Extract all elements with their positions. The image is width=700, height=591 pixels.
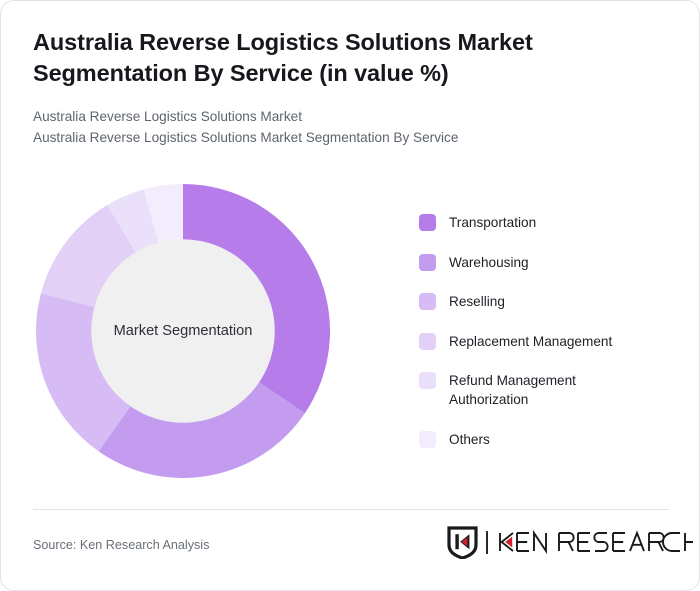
chart-area: Market Segmentation TransportationWareho… (1, 169, 700, 499)
legend-swatch-icon (419, 372, 436, 389)
legend-item-label: Reselling (449, 292, 505, 311)
legend-item-label: Warehousing (449, 253, 529, 272)
donut-chart: Market Segmentation (35, 183, 331, 479)
donut-svg (35, 183, 331, 479)
legend-swatch-icon (419, 214, 436, 231)
page-title: Australia Reverse Logistics Solutions Ma… (33, 27, 645, 89)
donut-inner-circle (91, 239, 275, 423)
legend-item[interactable]: Replacement Management (419, 332, 669, 351)
logo-divider (486, 531, 488, 554)
legend-item[interactable]: Reselling (419, 292, 669, 311)
source-note: Source: Ken Research Analysis (33, 538, 209, 552)
legend-item-label: Refund Management Authorization (449, 371, 576, 409)
subtitle-market: Australia Reverse Logistics Solutions Ma… (33, 106, 645, 127)
legend-item[interactable]: Transportation (419, 213, 669, 232)
subtitle-segmentation: Australia Reverse Logistics Solutions Ma… (33, 127, 645, 148)
chart-card: Australia Reverse Logistics Solutions Ma… (0, 0, 700, 591)
chart-header: Australia Reverse Logistics Solutions Ma… (33, 27, 645, 148)
legend-swatch-icon (419, 254, 436, 271)
legend-swatch-icon (419, 293, 436, 310)
legend-item-label: Transportation (449, 213, 536, 232)
legend-swatch-icon (419, 431, 436, 448)
ken-research-wordmark (497, 530, 693, 554)
subtitle-block: Australia Reverse Logistics Solutions Ma… (33, 106, 645, 148)
legend-item-label: Replacement Management (449, 332, 612, 351)
legend-item[interactable]: Others (419, 430, 669, 449)
legend-item-label: Others (449, 430, 490, 449)
legend-swatch-icon (419, 333, 436, 350)
legend-item[interactable]: Warehousing (419, 253, 669, 272)
footer-divider (33, 509, 669, 510)
legend-item[interactable]: Refund Management Authorization (419, 371, 669, 409)
chart-legend: TransportationWarehousingResellingReplac… (419, 213, 669, 469)
ken-shield-icon (447, 526, 478, 559)
ken-research-logo (447, 525, 693, 559)
